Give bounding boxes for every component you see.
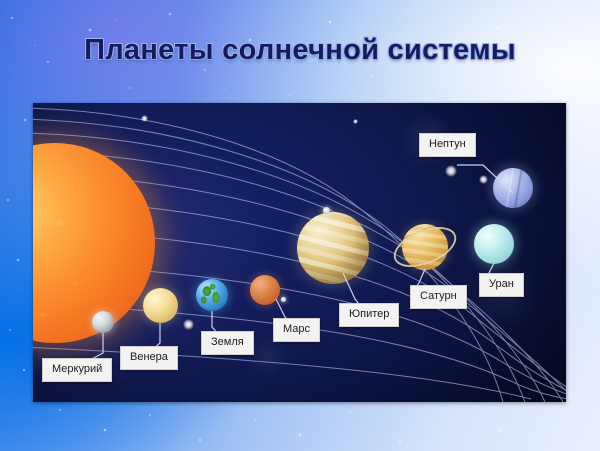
- label-mars[interactable]: Марс: [273, 318, 320, 342]
- solar-system-diagram: Меркурий Венера Земля Марс Юпитер Сатурн…: [33, 103, 566, 402]
- page-title: Планеты солнечной системы: [0, 34, 600, 67]
- label-venus[interactable]: Венера: [120, 346, 178, 370]
- label-earth[interactable]: Земля: [201, 331, 254, 355]
- label-neptune[interactable]: Нептун: [419, 133, 476, 157]
- presentation-slide: Планеты солнечной системы: [0, 0, 600, 451]
- label-saturn[interactable]: Сатурн: [410, 285, 467, 309]
- label-mercury[interactable]: Меркурий: [42, 358, 112, 382]
- label-jupiter[interactable]: Юпитер: [339, 303, 399, 327]
- label-connectors: [33, 103, 566, 402]
- label-uranus[interactable]: Уран: [479, 273, 524, 297]
